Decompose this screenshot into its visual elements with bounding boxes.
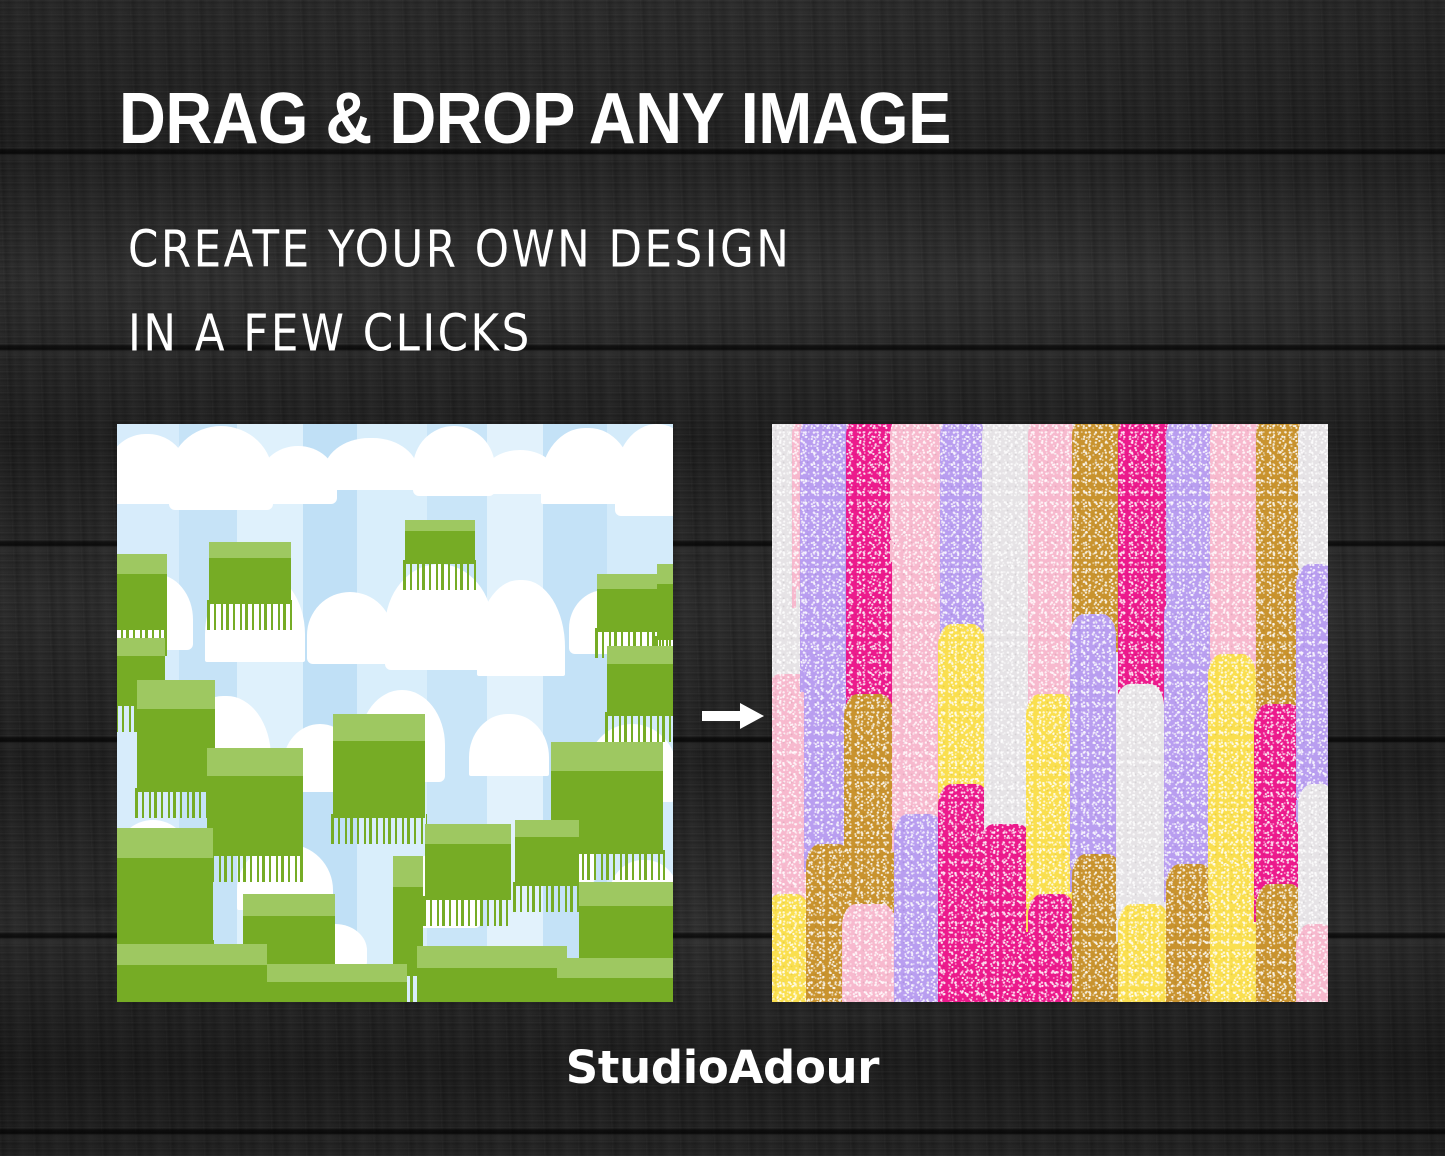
grass-stroke-highlight [557,958,673,978]
glitter-stroke [1028,424,1074,714]
glitter-stroke [1166,424,1214,614]
page-title: DRAG & DROP ANY IMAGE [119,83,951,155]
grass-stroke-highlight [417,946,567,968]
grass-stroke-highlight [607,646,673,664]
subtitle-line-1: CREATE YOUR OWN DESIGN [128,220,791,279]
grass-stroke [117,554,167,630]
glitter-stroke [1296,924,1328,1002]
grass-stroke [209,542,291,604]
grass-stroke-drip [513,882,581,912]
grass-stroke-drip [331,814,427,844]
grass-stroke-highlight [405,520,475,531]
glitter-stroke [800,424,848,674]
grass-stroke [657,564,673,640]
glitter-stroke [980,824,1032,1002]
glitter-stroke [938,624,986,804]
glitter-stroke [1118,424,1170,694]
grass-stroke [425,824,511,900]
grass-stroke [515,820,579,886]
grass-stroke-drip [423,896,513,926]
grass-stroke-highlight [515,820,579,837]
grass-stroke-highlight [117,828,213,858]
grass-stroke [137,680,215,792]
grass-stroke-highlight [207,748,303,776]
source-image-preview[interactable] [117,424,673,1002]
glitter-stroke [1208,654,1256,884]
grass-stroke-highlight [137,680,215,709]
glitter-stroke [1298,424,1328,574]
glitter-stroke [1166,864,1214,1002]
glitter-stroke [1116,684,1164,924]
glitter-stroke [1296,564,1328,804]
grass-stroke-highlight [209,542,291,558]
glitter-stroke [1072,854,1122,1002]
grass-stroke-highlight [657,564,673,584]
grass-stroke [417,946,567,1002]
grass-stroke-highlight [333,714,425,741]
grass-stroke-highlight [117,944,267,965]
grass-stroke-highlight [243,894,335,916]
glitter-stroke [1298,784,1328,944]
grass-stroke-highlight [117,638,165,656]
grass-stroke [117,944,267,1002]
grass-stroke [333,714,425,818]
grass-stroke-highlight [267,964,407,982]
grass-stroke-drip [205,852,305,882]
glitter-stroke [842,904,896,1002]
result-image-preview[interactable] [772,424,1328,1002]
grass-stroke-highlight [117,554,167,574]
glitter-stroke [1072,424,1122,634]
brand-logo-text: StudioAdour [0,1041,1445,1094]
grass-stroke-highlight [425,824,511,844]
glitter-stroke [984,554,1030,854]
grass-stroke [557,958,673,1002]
grass-stroke [117,828,213,944]
grass-stroke-highlight [579,882,673,906]
subtitle-line-2: IN A FEW CLICKS [128,304,532,363]
glitter-stroke [1028,894,1076,1002]
glitter-stroke [1164,594,1214,884]
grass-stroke-drip [403,560,477,590]
grass-stroke-drip [605,712,673,742]
glitter-stroke [772,894,810,1002]
grass-stroke [267,964,407,1002]
glitter-stroke [940,424,984,654]
glitter-stroke [804,654,848,854]
grass-stroke-highlight [551,742,663,771]
grass-stroke-drip [207,600,293,630]
grass-stroke-highlight [393,856,423,887]
glitter-stroke [844,694,894,924]
grass-stroke-drip [135,788,217,818]
glitter-stroke [1210,424,1262,664]
glitter-stroke [1026,694,1076,914]
glitter-stroke [894,814,944,1002]
glitter-stroke [1070,614,1116,874]
arrow-right-icon [702,701,764,731]
poster-canvas: DRAG & DROP ANY IMAGE CREATE YOUR OWN DE… [0,0,1445,1156]
glitter-stroke [890,424,946,544]
grass-stroke [207,748,303,856]
grass-stroke [607,646,673,716]
glitter-stroke [1118,904,1170,1002]
grass-stroke [405,520,475,564]
